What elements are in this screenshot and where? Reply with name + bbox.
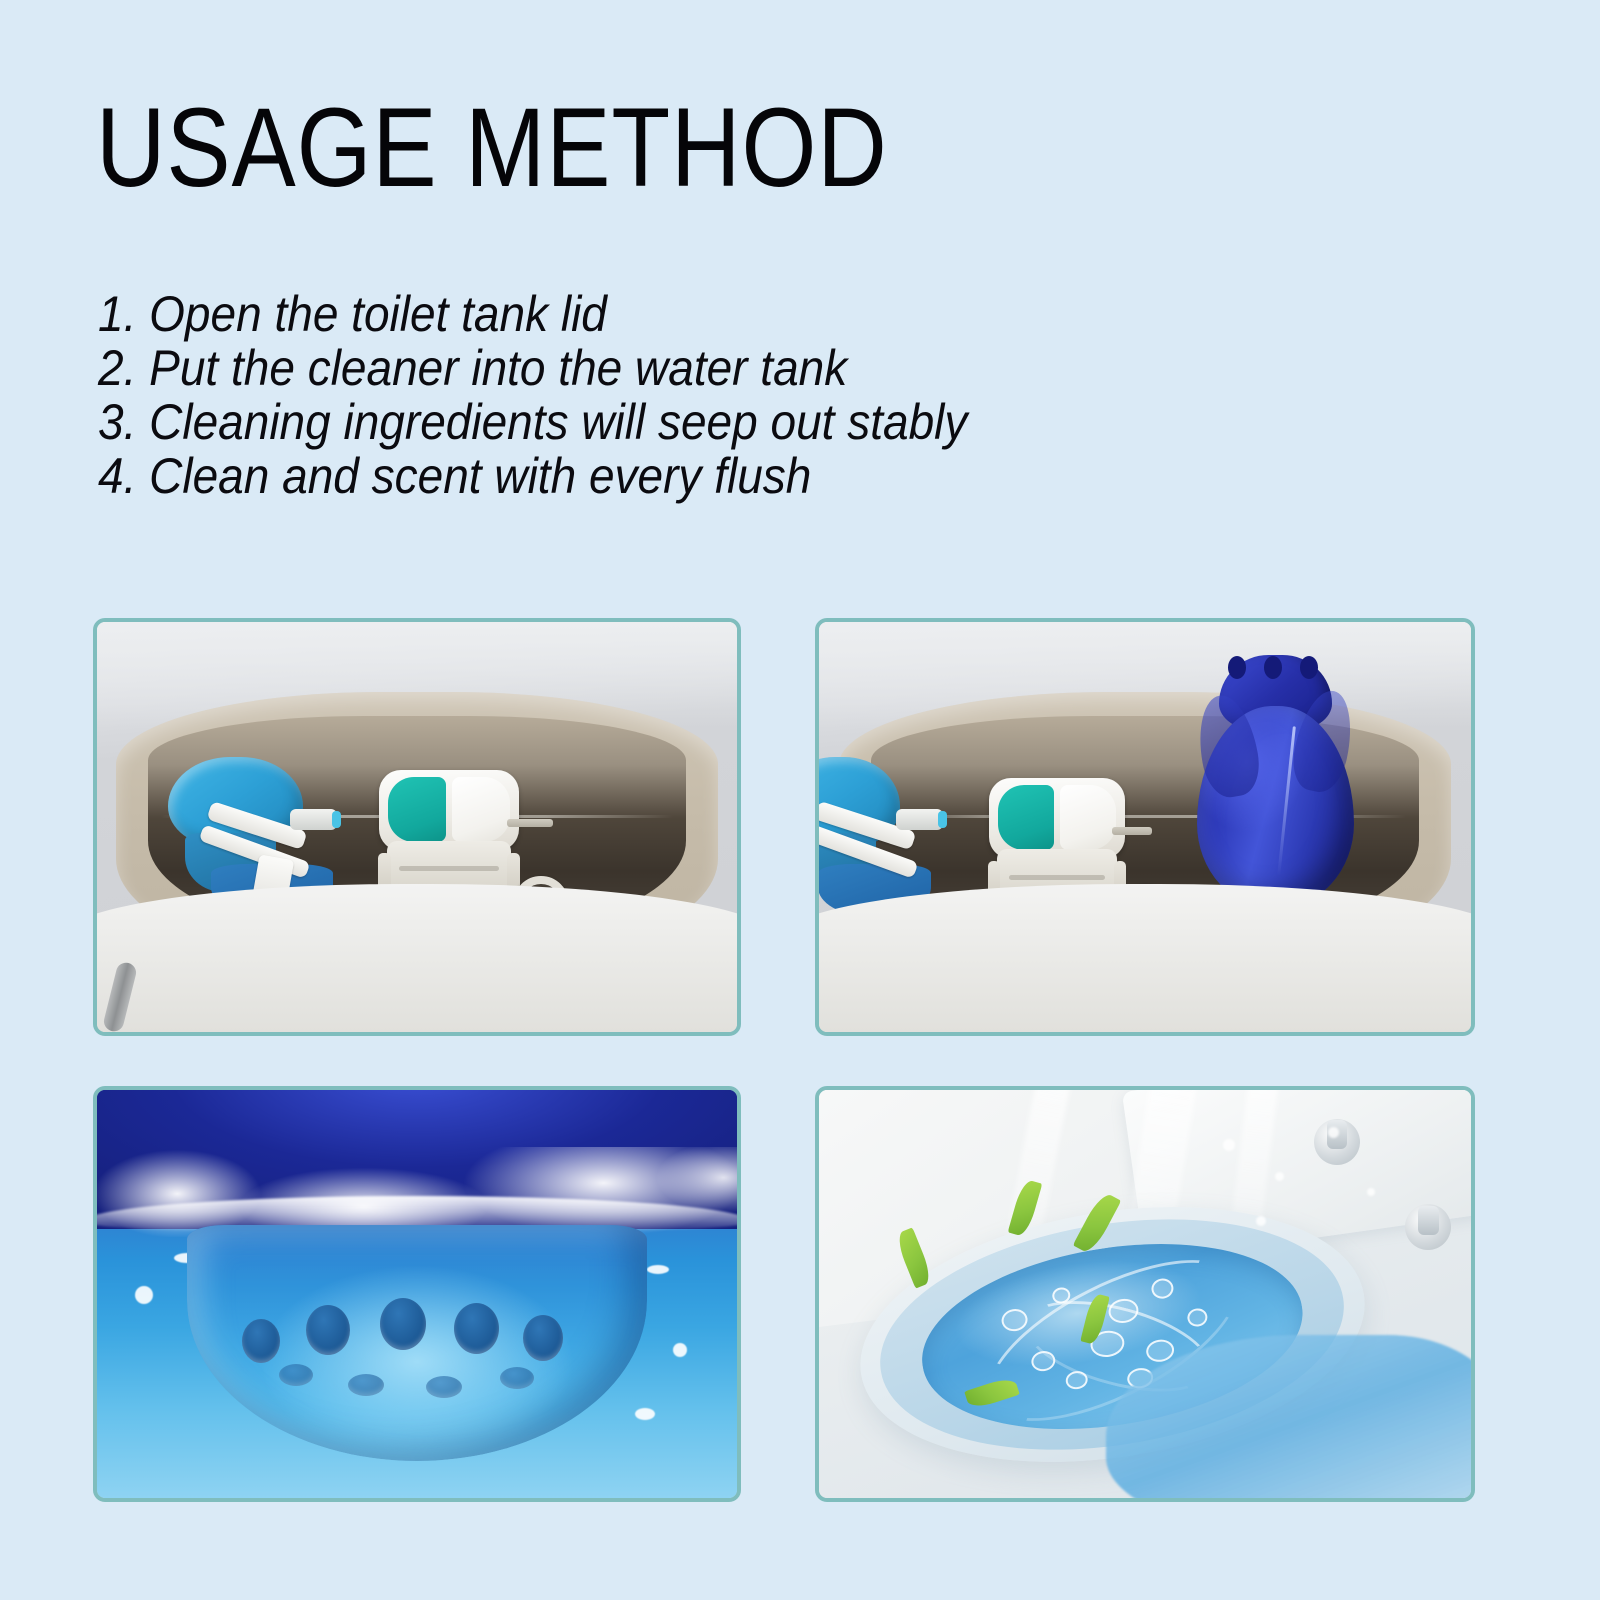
photo-clean-scented-flush <box>819 1090 1471 1498</box>
flush-button-half-flush[interactable] <box>388 777 446 842</box>
usage-step-2: 2. Put the cleaner into the water tank <box>98 342 1128 396</box>
flush-button-full-flush[interactable] <box>452 777 510 842</box>
sparkle-dot <box>1328 1127 1339 1138</box>
toilet-tank-exterior <box>819 884 1471 1032</box>
dome-hole <box>242 1319 280 1363</box>
photo-cleaner-underwater <box>97 1090 737 1498</box>
dome-hole <box>454 1303 499 1354</box>
flush-valve-rib <box>1009 875 1105 880</box>
overflow-tube <box>507 819 553 827</box>
usage-steps-list: 1. Open the toilet tank lid 2. Put the c… <box>98 288 1218 504</box>
sparkle-dot <box>1275 1172 1284 1181</box>
dome-hole-lower <box>348 1374 384 1396</box>
rose-toilet-cleaner-product <box>1197 655 1353 909</box>
flush-button-housing <box>989 778 1126 859</box>
usage-step-4: 4. Clean and scent with every flush <box>98 450 1128 504</box>
photo-open-toilet-tank <box>97 622 737 1032</box>
dome-hole-lower <box>500 1367 534 1389</box>
flush-button-housing <box>379 770 520 851</box>
photo-cleaner-into-tank <box>819 622 1471 1032</box>
page-title: USAGE METHOD <box>96 92 888 204</box>
fill-valve-outlet <box>896 809 943 830</box>
usage-step-1: 1. Open the toilet tank lid <box>98 288 1128 342</box>
rose-petal-notch <box>1264 656 1282 679</box>
rose-petal-notch <box>1300 656 1318 679</box>
photo-frame-step-1 <box>93 618 741 1036</box>
water-bubble <box>635 1408 655 1420</box>
usage-step-3: 3. Cleaning ingredients will seep out st… <box>98 396 1128 450</box>
dome-hole <box>380 1298 426 1350</box>
overflow-tube <box>1112 827 1152 835</box>
photo-frame-step-3 <box>93 1086 741 1502</box>
photo-frame-step-2 <box>815 618 1475 1036</box>
dome-hole-lower <box>279 1364 313 1386</box>
rose-petal-notch <box>1228 656 1246 679</box>
dome-hole <box>523 1315 563 1361</box>
sparkle-dot <box>1367 1188 1375 1196</box>
water-bubble <box>673 1343 687 1357</box>
photo-grid <box>93 618 1475 1502</box>
photo-frame-step-4 <box>815 1086 1475 1502</box>
toilet-tank-exterior <box>97 884 737 1032</box>
flush-valve-rib <box>399 866 498 871</box>
flush-button-full-flush[interactable] <box>1060 785 1116 850</box>
seat-hinge-bolt <box>1314 1119 1360 1165</box>
fill-valve-outlet <box>290 809 338 830</box>
dome-hole-lower <box>426 1376 462 1398</box>
flush-button-half-flush[interactable] <box>998 785 1054 850</box>
dome-hole <box>306 1305 350 1355</box>
